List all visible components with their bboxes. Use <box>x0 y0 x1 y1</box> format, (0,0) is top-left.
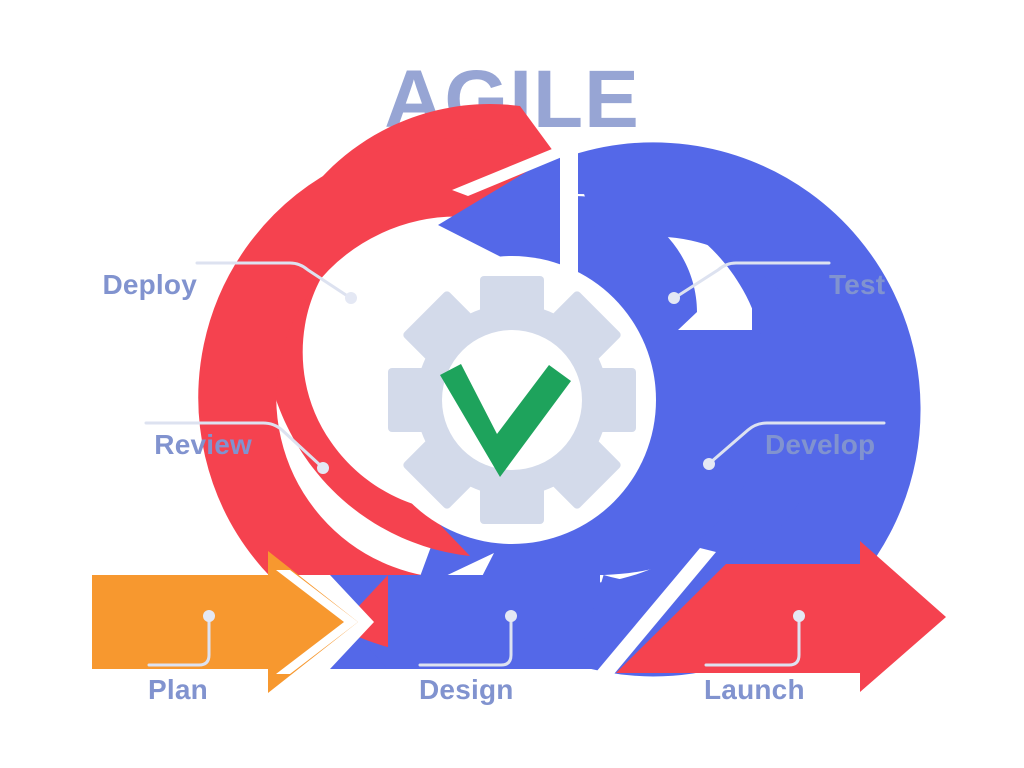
stage-label-launch[interactable]: Launch <box>704 674 805 705</box>
stage-label-deploy[interactable]: Deploy <box>102 269 197 300</box>
agile-infographic: AGILE <box>0 0 1024 768</box>
stage-label-develop[interactable]: Develop <box>765 429 875 460</box>
stage-label-test[interactable]: Test <box>829 269 885 300</box>
stage-label-design[interactable]: Design <box>419 674 514 705</box>
agile-diagram-svg: AGILE <box>0 0 1024 768</box>
stage-label-plan[interactable]: Plan <box>148 674 208 705</box>
stage-label-review[interactable]: Review <box>154 429 252 460</box>
